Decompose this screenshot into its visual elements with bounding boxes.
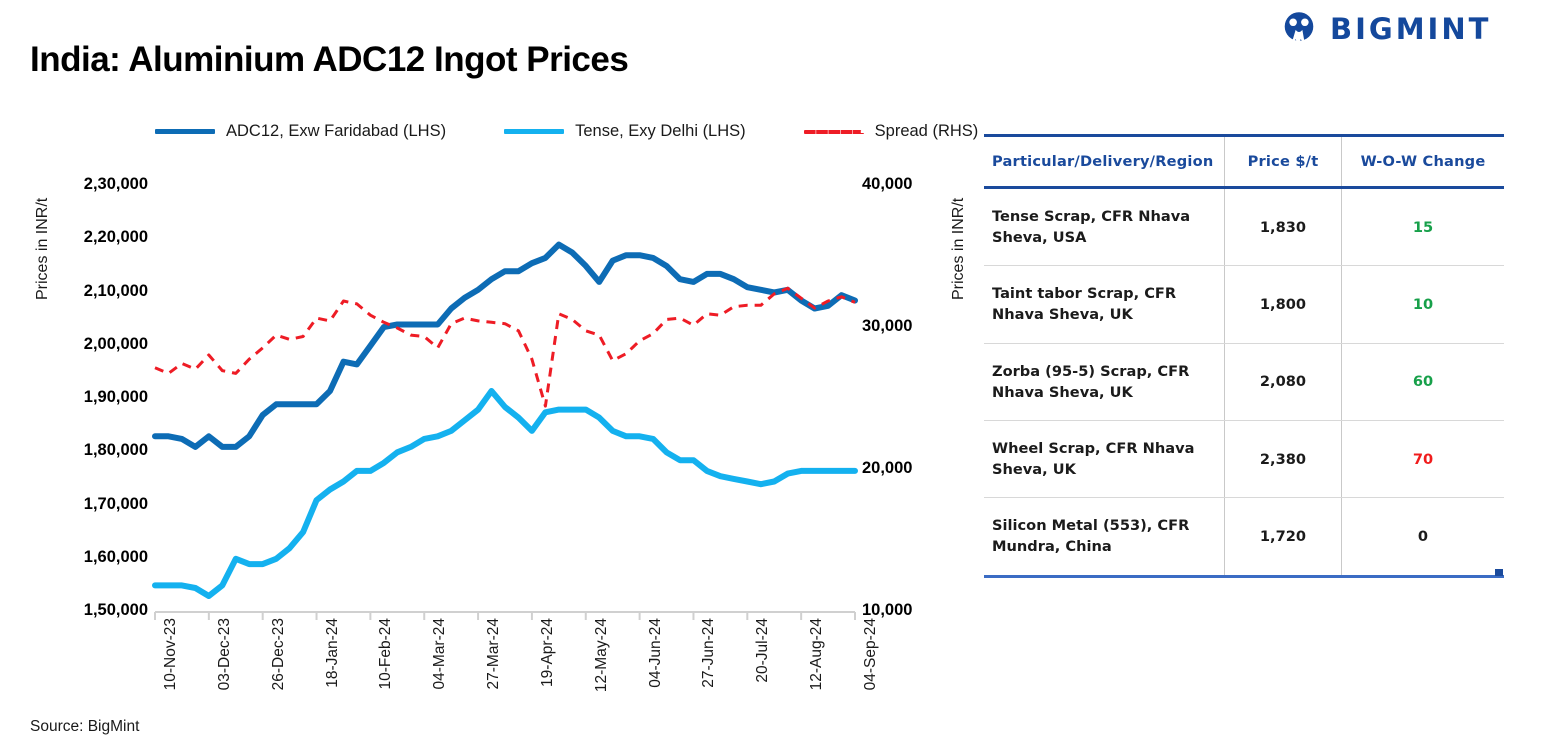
bigmint-mascot-icon	[1278, 8, 1320, 50]
table-row: Taint tabor Scrap, CFR Nhava Sheva, UK1,…	[984, 266, 1504, 343]
status-badge: 60	[1413, 373, 1433, 390]
cell-price: 1,830	[1225, 188, 1342, 266]
cell-wow-change: 15	[1342, 188, 1505, 266]
brand-name: BIGMINT	[1330, 15, 1491, 44]
cell-particular: Taint tabor Scrap, CFR Nhava Sheva, UK	[984, 266, 1225, 343]
cell-wow-change: 70	[1342, 420, 1505, 497]
status-badge: 10	[1413, 296, 1433, 313]
cell-price: 1,720	[1225, 498, 1342, 576]
price-table-head: Particular/Delivery/Region Price $/t W-O…	[984, 136, 1504, 188]
col-particular: Particular/Delivery/Region	[984, 136, 1225, 188]
brand-logo: BIGMINT	[1278, 8, 1491, 50]
table-corner-marker	[1495, 569, 1503, 576]
cell-price: 1,800	[1225, 266, 1342, 343]
series-line-adc12	[155, 245, 855, 447]
price-table-body: Tense Scrap, CFR Nhava Sheva, USA1,83015…	[984, 188, 1504, 577]
col-change: W-O-W Change	[1342, 136, 1505, 188]
table-header-row: Particular/Delivery/Region Price $/t W-O…	[984, 136, 1504, 188]
cell-wow-change: 10	[1342, 266, 1505, 343]
cell-particular: Tense Scrap, CFR Nhava Sheva, USA	[984, 188, 1225, 266]
status-badge: 70	[1413, 451, 1433, 468]
line-chart: Prices in INR/t Prices in INR/t 1,50,000…	[0, 0, 960, 753]
table-row: Silicon Metal (553), CFR Mundra, China1,…	[984, 498, 1504, 576]
cell-particular: Silicon Metal (553), CFR Mundra, China	[984, 498, 1225, 576]
table-row: Zorba (95-5) Scrap, CFR Nhava Sheva, UK2…	[984, 343, 1504, 420]
table-row: Tense Scrap, CFR Nhava Sheva, USA1,83015	[984, 188, 1504, 266]
price-table: Particular/Delivery/Region Price $/t W-O…	[984, 134, 1504, 578]
cell-price: 2,380	[1225, 420, 1342, 497]
series-line-spread	[155, 288, 855, 406]
status-badge: 0	[1418, 528, 1428, 545]
cell-particular: Zorba (95-5) Scrap, CFR Nhava Sheva, UK	[984, 343, 1225, 420]
col-price: Price $/t	[1225, 136, 1342, 188]
plot-area	[0, 0, 960, 753]
source-note: Source: BigMint	[30, 718, 139, 736]
cell-wow-change: 0	[1342, 498, 1505, 576]
cell-price: 2,080	[1225, 343, 1342, 420]
table-row: Wheel Scrap, CFR Nhava Sheva, UK2,38070	[984, 420, 1504, 497]
status-badge: 15	[1413, 219, 1433, 236]
cell-particular: Wheel Scrap, CFR Nhava Sheva, UK	[984, 420, 1225, 497]
price-table-wrap: Particular/Delivery/Region Price $/t W-O…	[984, 134, 1504, 578]
cell-wow-change: 60	[1342, 343, 1505, 420]
